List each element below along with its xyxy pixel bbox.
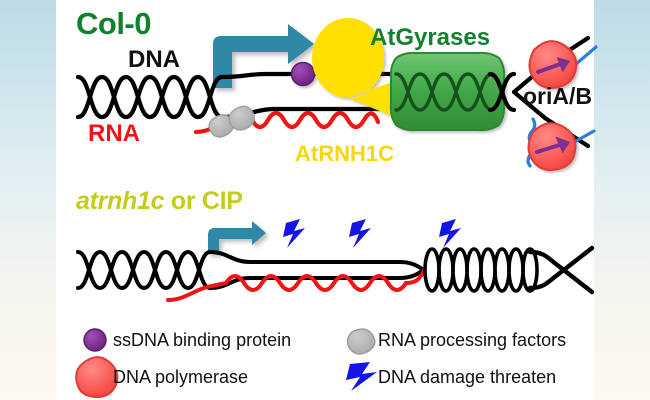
label-origin: oriA/B — [523, 85, 592, 108]
dna-double-helix-left — [78, 77, 222, 117]
legend-purple-circle-icon — [84, 329, 106, 351]
dna-double-helix-left-panel2 — [78, 252, 210, 288]
rna-processing-factor-icon — [229, 106, 254, 130]
panel2-title-rest: or CIP — [164, 187, 242, 215]
dna-polymerase-icon — [530, 41, 577, 88]
dna-damage-bolts-panel2 — [283, 219, 461, 248]
supercoiled-dna-panel2 — [425, 249, 537, 291]
panel1-title: Col-0 — [76, 8, 151, 39]
legend-label-ssdna-binding-protein: ssDNA binding protein — [113, 331, 291, 349]
legend-gray-blob-icon — [347, 329, 374, 354]
lightning-bolt-icon — [349, 219, 371, 248]
figure-canvas: Col-0 atrnh1c or CIP DNA RNA AtGyrases A… — [0, 0, 650, 400]
legend-label-dna-damage-threaten: DNA damage threaten — [378, 368, 556, 386]
legend-red-blob-icon — [76, 357, 117, 397]
lightning-bolt-icon — [283, 219, 305, 248]
label-rna: RNA — [88, 122, 140, 146]
panel2-title: atrnh1c or CIP — [76, 189, 243, 214]
panel2-title-italic: atrnh1c — [76, 187, 164, 215]
label-atrnh1c: AtRNH1C — [295, 143, 394, 165]
legend-lightning-bolt-icon — [346, 362, 377, 391]
dna-polymerase-icon — [529, 123, 576, 170]
legend-label-dna-polymerase: DNA polymerase — [113, 368, 248, 386]
unwound-fork-panel2 — [530, 248, 592, 292]
process-arrow-panel2 — [208, 221, 266, 254]
ssdna-binding-protein-icon — [292, 63, 315, 86]
lightning-bolt-icon — [439, 219, 461, 248]
legend-label-rna-processing-factors: RNA processing factors — [378, 331, 566, 349]
label-atgyrases: AtGyrases — [370, 26, 490, 50]
atgyrases-complex — [391, 53, 504, 130]
label-dna: DNA — [128, 48, 180, 72]
